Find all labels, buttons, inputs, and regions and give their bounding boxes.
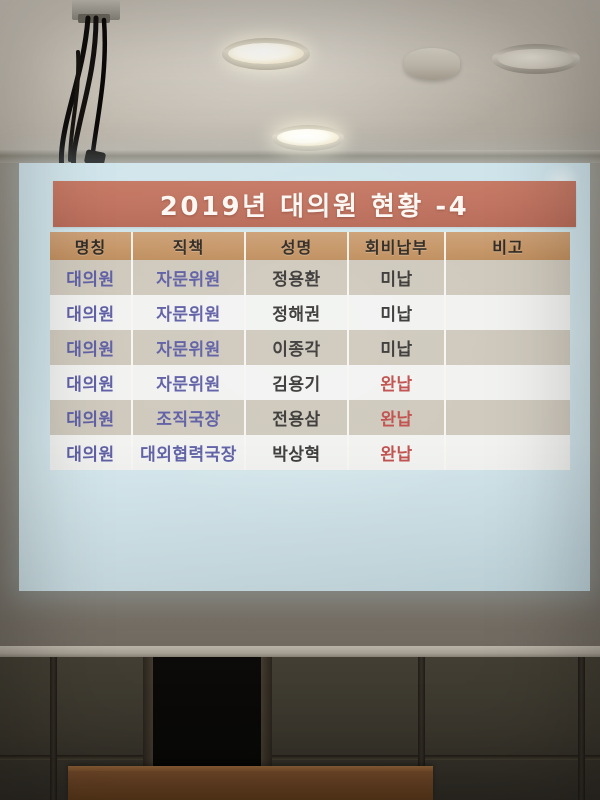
cell-note — [445, 365, 570, 400]
panel-post-3 — [578, 657, 585, 800]
cell-dues: 미납 — [348, 330, 445, 365]
table-row: 대의원 조직국장 전용삼 완납 — [50, 400, 570, 435]
table-row: 대의원 자문위원 정용환 미납 — [50, 260, 570, 295]
cell-person: 정해권 — [245, 295, 348, 330]
smoke-detector-icon — [404, 48, 460, 80]
projection-screen: 2019년 대의원 현황 -4 명칭 직책 성명 회비납부 비고 — [19, 163, 590, 591]
table-row: 대의원 자문위원 김용기 완납 — [50, 365, 570, 400]
cell-dues: 미납 — [348, 260, 445, 295]
cell-name: 대의원 — [50, 295, 132, 330]
cell-position: 조직국장 — [132, 400, 245, 435]
cell-name: 대의원 — [50, 400, 132, 435]
cell-person: 김용기 — [245, 365, 348, 400]
cell-dues: 완납 — [348, 365, 445, 400]
cell-dues: 미납 — [348, 295, 445, 330]
cell-position: 자문위원 — [132, 295, 245, 330]
cell-dues: 완납 — [348, 435, 445, 470]
cell-note — [445, 260, 570, 295]
slide-title-bar: 2019년 대의원 현황 -4 — [53, 181, 576, 227]
cell-note — [445, 295, 570, 330]
cell-note — [445, 330, 570, 365]
photo-scene: 2019년 대의원 현황 -4 명칭 직책 성명 회비납부 비고 — [0, 0, 600, 800]
column-header-note: 비고 — [445, 232, 570, 260]
cell-position: 대외협력국장 — [132, 435, 245, 470]
cell-note — [445, 400, 570, 435]
table-row: 대의원 자문위원 이종각 미납 — [50, 330, 570, 365]
cell-name: 대의원 — [50, 365, 132, 400]
ceiling-light-3-icon — [492, 44, 580, 74]
cell-note — [445, 435, 570, 470]
cell-person: 정용환 — [245, 260, 348, 295]
cell-name: 대의원 — [50, 260, 132, 295]
cell-name: 대의원 — [50, 330, 132, 365]
cell-person: 이종각 — [245, 330, 348, 365]
cell-name: 대의원 — [50, 435, 132, 470]
panel-rail-right — [272, 755, 600, 760]
table-row: 대의원 자문위원 정해권 미납 — [50, 295, 570, 330]
light-lens — [228, 43, 304, 64]
cell-person: 전용삼 — [245, 400, 348, 435]
panel-post-1 — [50, 657, 57, 800]
cell-person: 박상혁 — [245, 435, 348, 470]
ceiling-light-2-icon — [272, 125, 344, 151]
table-row: 대의원 대외협력국장 박상혁 완납 — [50, 435, 570, 470]
light-lens — [498, 49, 574, 69]
column-header-name: 명칭 — [50, 232, 132, 260]
slide-title: 2019년 대의원 현황 -4 — [160, 186, 469, 223]
column-header-person: 성명 — [245, 232, 348, 260]
cell-position: 자문위원 — [132, 330, 245, 365]
ceiling-light-1-icon — [222, 38, 310, 70]
cell-dues: 완납 — [348, 400, 445, 435]
wooden-table-edge — [68, 766, 433, 771]
slide-table: 명칭 직책 성명 회비납부 비고 대의원 자문위원 정용환 미납 대의원 자문 — [50, 232, 570, 470]
panel-rail-left — [0, 755, 150, 760]
cell-position: 자문위원 — [132, 365, 245, 400]
wooden-table — [68, 766, 433, 800]
column-header-dues: 회비납부 — [348, 232, 445, 260]
table-header-row: 명칭 직책 성명 회비납부 비고 — [50, 232, 570, 260]
cell-position: 자문위원 — [132, 260, 245, 295]
column-header-position: 직책 — [132, 232, 245, 260]
projector-mount-plate — [78, 14, 110, 23]
